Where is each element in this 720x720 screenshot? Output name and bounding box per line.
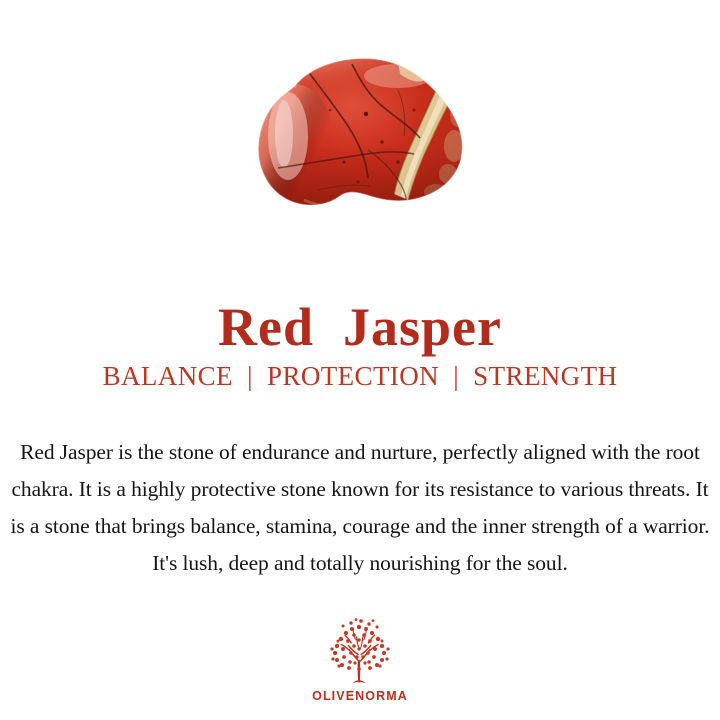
brand-wordmark: OLIVENORMA — [0, 689, 720, 703]
keyword-protection: PROTECTION — [267, 361, 439, 391]
keyword-balance: BALANCE — [103, 361, 233, 391]
brand-logo: OLIVENORMA — [0, 618, 720, 703]
keyword-separator-1: | — [240, 360, 260, 392]
keyword-strength: STRENGTH — [473, 361, 617, 391]
red-jasper-stone-illustration — [248, 50, 480, 220]
keyword-separator-2: | — [446, 360, 466, 392]
page-title: Red Jasper — [0, 298, 720, 356]
tree-of-life-icon — [321, 618, 399, 686]
red-jasper-info-card: Red Jasper BALANCE | PROTECTION | STRENG… — [0, 0, 720, 720]
stone-image — [248, 50, 480, 220]
keyword-line: BALANCE | PROTECTION | STRENGTH — [0, 360, 720, 392]
description-text: Red Jasper is the stone of endurance and… — [10, 434, 710, 582]
